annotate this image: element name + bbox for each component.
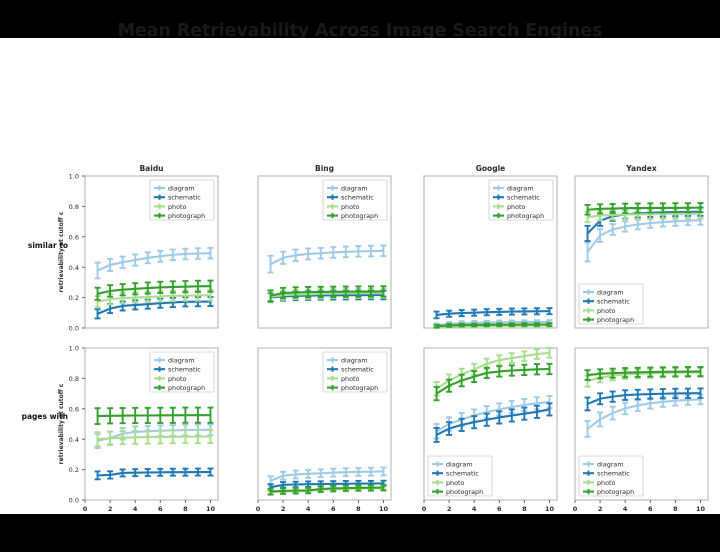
y-tick-label: 0.6 [69,233,79,241]
x-tick-label: 10 [379,505,389,513]
legend-label-schematic: schematic [507,194,540,202]
legend: diagramschematicphotophotograph [323,352,387,392]
legend-label-photo: photo [597,307,616,315]
subplot-google-similar-to: Googlediagramschematicphotophotograph [424,164,557,328]
x-tick-label: 2 [281,505,286,513]
legend-label-diagram: diagram [341,356,368,364]
legend-label-schematic: schematic [341,366,374,374]
subplot-title-google: Google [476,164,506,173]
legend-label-diagram: diagram [168,356,195,364]
row-label-similar-to: similar to [8,241,68,250]
y-tick-label: 1.0 [69,345,79,353]
y-tick-label: 0.6 [69,405,79,413]
legend-label-photo: photo [597,479,616,487]
legend-label-diagram: diagram [597,288,624,296]
subplot-google-pages-with: 0246810cdiagramschematicphotophotograph [422,348,557,514]
y-axis-label: retrievability at cutoff c [58,383,65,464]
legend-label-schematic: schematic [168,194,201,202]
legend: diagramschematicphotophotograph [579,284,643,324]
legend-label-schematic: schematic [341,194,374,202]
legend: diagramschematicphotophotograph [489,180,553,220]
x-tick-label: 6 [497,505,502,513]
y-tick-label: 1.0 [69,173,79,181]
legend-label-photo: photo [507,203,526,211]
row-label-pages-with: pages with [8,412,68,421]
subplot-title-baidu: Baidu [139,164,163,173]
series-line-photograph [98,415,211,416]
subplot-title-bing: Bing [315,164,334,173]
x-tick-label: 10 [206,505,216,513]
x-tick-label: 0 [422,505,427,513]
legend-label-photograph: photograph [341,384,378,392]
y-tick-label: 0.0 [69,325,79,333]
legend-label-photograph: photograph [341,212,378,220]
x-tick-label: 0 [573,505,578,513]
legend-label-diagram: diagram [446,460,473,468]
legend-label-schematic: schematic [597,470,630,478]
legend-label-diagram: diagram [507,184,534,192]
x-tick-label: 2 [598,505,603,513]
legend-label-photograph: photograph [168,384,205,392]
y-tick-label: 0.8 [69,203,79,211]
x-tick-label: 4 [623,505,628,513]
x-tick-label: 0 [83,505,88,513]
legend: diagramschematicphotophotograph [323,180,387,220]
legend-label-photo: photo [168,203,187,211]
legend-label-photograph: photograph [597,488,634,496]
subplot-yandex-similar-to: Yandexdiagramschematicphotophotograph [575,164,708,328]
legend-label-photo: photo [168,375,187,383]
y-tick-label: 0.2 [69,466,79,474]
legend-label-schematic: schematic [168,366,201,374]
y-tick-label: 0.2 [69,294,79,302]
x-tick-label: 2 [108,505,113,513]
x-tick-label: 10 [545,505,555,513]
legend-label-diagram: diagram [341,184,368,192]
x-tick-label: 8 [673,505,678,513]
y-tick-label: 0.4 [69,264,79,272]
x-tick-label: 8 [356,505,361,513]
x-tick-label: 4 [472,505,477,513]
x-tick-label: 6 [331,505,336,513]
legend-label-photo: photo [446,479,465,487]
x-tick-label: 4 [133,505,138,513]
legend: diagramschematicphotophotograph [150,180,214,220]
x-tick-label: 4 [306,505,311,513]
x-tick-label: 6 [648,505,653,513]
legend-label-photo: photo [341,203,360,211]
legend-label-photograph: photograph [597,316,634,324]
legend: diagramschematicphotophotograph [150,352,214,392]
subplot-grid: Baidu0.00.20.40.60.81.0retrievability at… [0,38,720,514]
x-tick-label: 0 [256,505,261,513]
x-tick-label: 2 [447,505,452,513]
legend-label-photograph: photograph [507,212,544,220]
y-tick-label: 0.4 [69,436,79,444]
x-tick-label: 6 [158,505,163,513]
figure-letterbox: Mean Retrievability Across Image Search … [0,0,720,552]
x-tick-label: 10 [696,505,706,513]
subplot-title-yandex: Yandex [625,164,657,173]
subplot-bing-pages-with: 0246810cdiagramschematicphotophotograph [256,348,391,514]
legend-label-schematic: schematic [597,298,630,306]
y-tick-label: 0.0 [69,497,79,505]
legend-label-diagram: diagram [168,184,195,192]
x-tick-label: 8 [183,505,188,513]
legend-label-schematic: schematic [446,470,479,478]
legend: diagramschematicphotophotograph [428,456,492,496]
x-tick-label: 8 [522,505,527,513]
subplot-bing-similar-to: Bingdiagramschematicphotophotograph [258,164,391,328]
legend-label-diagram: diagram [597,460,624,468]
y-axis-label: retrievability at cutoff c [58,211,65,292]
subplot-baidu-similar-to: Baidu0.00.20.40.60.81.0retrievability at… [58,164,218,333]
subplot-yandex-pages-with: 0246810cdiagramschematicphotophotograph [573,348,708,514]
y-tick-label: 0.8 [69,375,79,383]
legend-label-photograph: photograph [168,212,205,220]
legend: diagramschematicphotophotograph [579,456,643,496]
figure-canvas: similar to pages with Baidu0.00.20.40.60… [0,38,720,514]
subplot-baidu-pages-with: 0.00.20.40.60.81.00246810cretrievability… [58,345,218,514]
legend-label-photograph: photograph [446,488,483,496]
legend-label-photo: photo [341,375,360,383]
